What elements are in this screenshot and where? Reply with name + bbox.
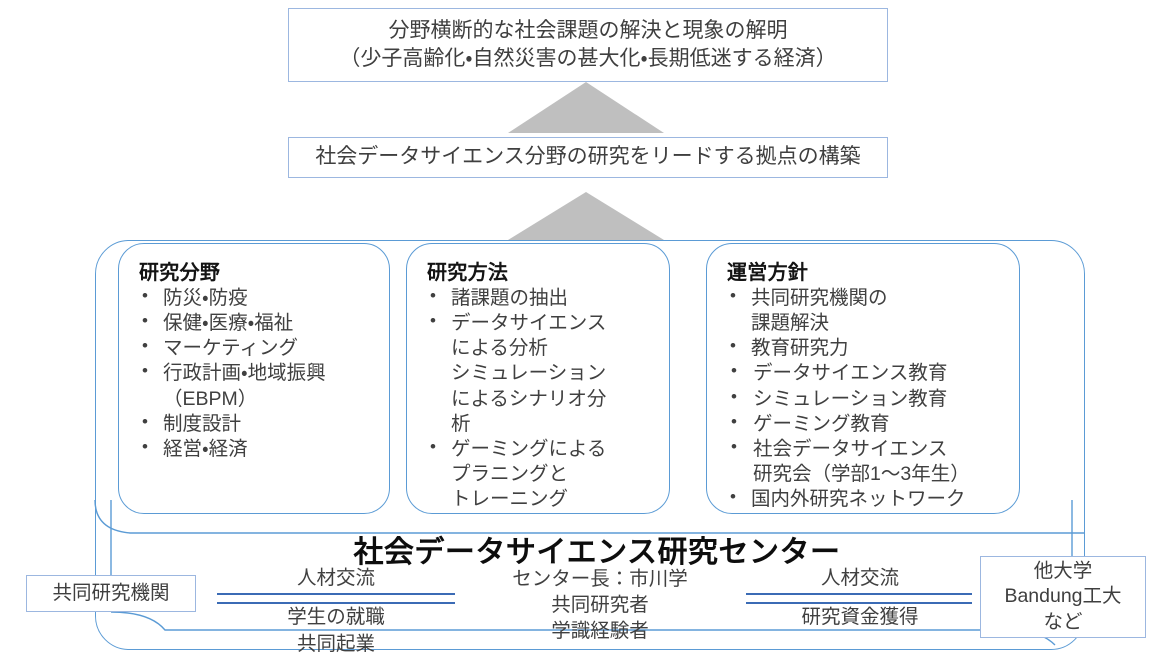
exchange-left-below1: 学生の就職 bbox=[205, 605, 467, 631]
list-item: 諸課題の抽出 bbox=[421, 286, 659, 311]
goal-box-primary: 分野横断的な社会課題の解決と現象の解明 （少子高齢化・自然災害の甚大化・長期低迷… bbox=[288, 8, 888, 82]
list-item: による分析 bbox=[421, 336, 659, 361]
partner-left-label: 共同研究機関 bbox=[52, 581, 169, 606]
card-policy-list-tail: 国内外研究ネットワーク bbox=[721, 487, 1009, 512]
list-item: 研究会（学部1〜3年生） bbox=[721, 462, 1009, 487]
goal-mid-line1: 社会データサイエンス分野の研究をリードする拠点の構築 bbox=[315, 143, 860, 171]
list-item: ゲーミング教育 bbox=[721, 412, 1009, 437]
card-operating-policy: 運営方針 共同研究機関の 課題解決 教育研究力 データサイエンス教育 シミュレー… bbox=[706, 243, 1020, 514]
center-director: センター長：市川学 bbox=[455, 567, 745, 593]
arrow-triangle-lower bbox=[508, 192, 664, 240]
arrow-triangle-upper bbox=[508, 82, 664, 133]
list-item: （EBPM） bbox=[133, 387, 379, 412]
exchange-right-double-line bbox=[746, 593, 972, 604]
exchange-right-group: 人材交流 研究資金獲得 bbox=[740, 566, 980, 631]
goal-top-line1: 分野横断的な社会課題の解決と現象の解明 bbox=[339, 17, 836, 45]
card-policy-list: 共同研究機関の 課題解決 教育研究力 bbox=[721, 286, 1009, 361]
list-item: シミュレーション bbox=[421, 361, 659, 386]
goal-top-line2: （少子高齢化・自然災害の甚大化・長期低迷する経済） bbox=[339, 45, 836, 73]
list-item: 国内外研究ネットワーク bbox=[721, 487, 1009, 512]
list-item: データサイエンス bbox=[421, 311, 659, 336]
diagram-canvas: 分野横断的な社会課題の解決と現象の解明 （少子高齢化・自然災害の甚大化・長期低迷… bbox=[0, 0, 1170, 659]
list-item: 課題解決 bbox=[721, 311, 1009, 336]
center-staff-block: センター長：市川学 共同研究者 学識経験者 bbox=[455, 567, 745, 645]
center-advisors: 学識経験者 bbox=[455, 619, 745, 645]
exchange-left-double-line bbox=[217, 593, 455, 604]
list-item: 行政計画・地域振興 bbox=[133, 361, 379, 386]
goal-box-secondary: 社会データサイエンス分野の研究をリードする拠点の構築 bbox=[288, 137, 888, 178]
card-policy-sublist: データサイエンス教育 シミュレーション教育 ゲーミング教育 社会データサイエンス… bbox=[721, 361, 1009, 487]
list-item: 社会データサイエンス bbox=[721, 437, 1009, 462]
list-item: 防災・防疫 bbox=[133, 286, 379, 311]
exchange-left-above: 人材交流 bbox=[205, 566, 467, 592]
card-fields-list: 防災・防疫 保健・医療・福祉 マーケティング 行政計画・地域振興 （EBPM） … bbox=[133, 286, 379, 462]
list-item: 共同研究機関の bbox=[721, 286, 1009, 311]
partner-right-line1: 他大学 bbox=[1004, 559, 1121, 584]
center-collaborators: 共同研究者 bbox=[455, 593, 745, 619]
card-policy-title: 運営方針 bbox=[727, 256, 1009, 285]
partner-right-line3: など bbox=[1004, 610, 1121, 635]
list-item: 経営・経済 bbox=[133, 437, 379, 462]
card-research-methods: 研究方法 諸課題の抽出 データサイエンス による分析 シミュレーション によるシ… bbox=[406, 243, 670, 514]
partner-right-line2: Bandung工大 bbox=[1004, 584, 1121, 609]
list-item: マーケティング bbox=[133, 336, 379, 361]
partner-box-other-universities: 他大学 Bandung工大 など bbox=[980, 556, 1146, 638]
list-item: 析 bbox=[421, 412, 659, 437]
list-item: 教育研究力 bbox=[721, 336, 1009, 361]
list-item: データサイエンス教育 bbox=[721, 361, 1009, 386]
card-methods-list: 諸課題の抽出 データサイエンス による分析 シミュレーション によるシナリオ分 … bbox=[421, 286, 659, 512]
exchange-right-above: 人材交流 bbox=[740, 566, 980, 592]
partner-box-joint-research: 共同研究機関 bbox=[26, 575, 196, 612]
card-methods-title: 研究方法 bbox=[427, 256, 659, 285]
exchange-left-below2: 共同起業 bbox=[205, 632, 467, 658]
list-item: トレーニング bbox=[421, 487, 659, 512]
card-fields-title: 研究分野 bbox=[139, 256, 379, 285]
list-item: プラニングと bbox=[421, 462, 659, 487]
list-item: 制度設計 bbox=[133, 412, 379, 437]
list-item: 保健・医療・福祉 bbox=[133, 311, 379, 336]
exchange-left-group: 人材交流 学生の就職 共同起業 bbox=[205, 566, 467, 658]
list-item: ゲーミングによる bbox=[421, 437, 659, 462]
card-research-fields: 研究分野 防災・防疫 保健・医療・福祉 マーケティング 行政計画・地域振興 （E… bbox=[118, 243, 390, 514]
list-item: によるシナリオ分 bbox=[421, 387, 659, 412]
exchange-right-below1: 研究資金獲得 bbox=[740, 605, 980, 631]
list-item: シミュレーション教育 bbox=[721, 387, 1009, 412]
